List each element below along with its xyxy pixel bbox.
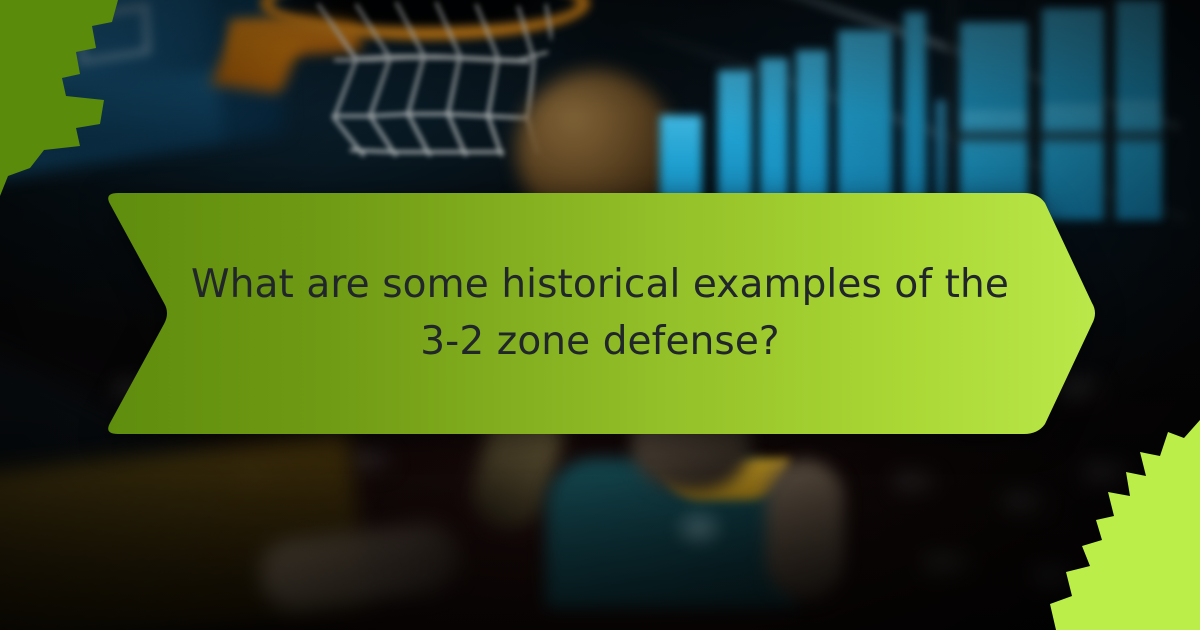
question-title: What are some historical examples of the… [190, 257, 1010, 370]
share-card-canvas: What are some historical examples of the… [0, 0, 1200, 630]
question-text-container: What are some historical examples of the… [160, 193, 1040, 434]
